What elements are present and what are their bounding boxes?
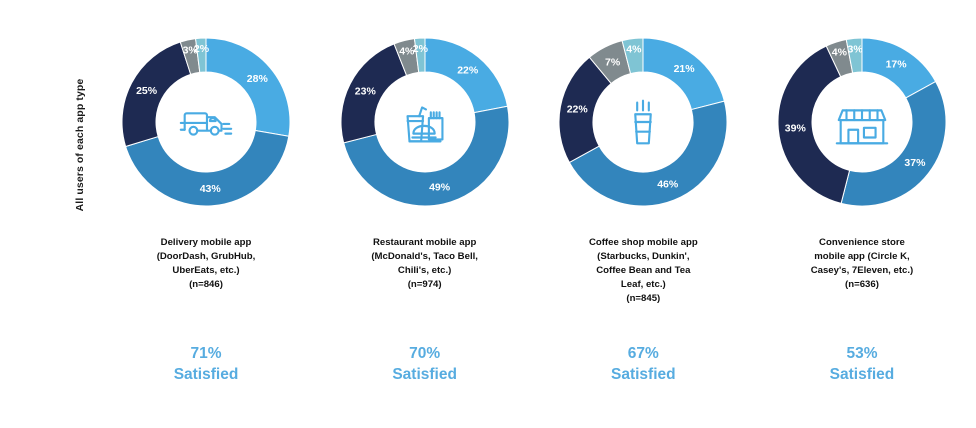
caption-line: (n=974) bbox=[330, 278, 520, 292]
donut-slice-satisfied[interactable] bbox=[841, 82, 946, 206]
caption-line: (n=845) bbox=[548, 292, 738, 306]
slice-label-satisfied: 46% bbox=[658, 178, 680, 190]
caption-line: (McDonald's, Taco Bell, bbox=[330, 250, 520, 264]
satisfied-percent: 70% bbox=[319, 344, 531, 365]
caption-line: Casey's, 7Eleven, etc.) bbox=[767, 264, 957, 278]
slice-label-very_dissatisfied: 3% bbox=[847, 43, 863, 55]
caption-line: Restaurant mobile app bbox=[330, 236, 520, 250]
satisfied-summary-restaurant: 70%Satisfied bbox=[319, 344, 531, 386]
donut-panel-delivery: 28%43%25%3%2% Delivery mobile app(DoorDa… bbox=[100, 26, 312, 306]
caption-line: Coffee Bean and Tea bbox=[548, 264, 738, 278]
chart-canvas: All users of each app type 28%43%25%3%2%… bbox=[0, 0, 976, 428]
slice-label-neutral: 39% bbox=[785, 122, 807, 134]
satisfied-word: Satisfied bbox=[319, 365, 531, 386]
donut-chart-delivery: 28%43%25%3%2% bbox=[110, 26, 302, 218]
satisfied-word: Satisfied bbox=[100, 365, 312, 386]
donut-chart-coffee-shop: 21%46%22%7%4% bbox=[547, 26, 739, 218]
slice-label-very_satisfied: 22% bbox=[457, 64, 479, 76]
donut-panels-row: 28%43%25%3%2% Delivery mobile app(DoorDa… bbox=[100, 26, 968, 306]
caption-line: Chili's, etc.) bbox=[330, 264, 520, 278]
panel-caption-delivery: Delivery mobile app(DoorDash, GrubHub,Ub… bbox=[111, 236, 301, 292]
slice-label-dissatisfied: 4% bbox=[832, 47, 848, 59]
satisfied-percent: 67% bbox=[537, 344, 749, 365]
caption-line: Convenience store bbox=[767, 236, 957, 250]
panel-caption-coffee-shop: Coffee shop mobile app(Starbucks, Dunkin… bbox=[548, 236, 738, 306]
satisfied-summary-coffee-shop: 67%Satisfied bbox=[537, 344, 749, 386]
caption-line: Coffee shop mobile app bbox=[548, 236, 738, 250]
donut-ring: 28%43%25%3%2% bbox=[110, 26, 302, 218]
slice-label-very_dissatisfied: 2% bbox=[412, 43, 428, 55]
donut-chart-restaurant: 22%49%23%4%2% bbox=[329, 26, 521, 218]
slice-label-dissatisfied: 7% bbox=[605, 56, 621, 68]
slice-label-very_satisfied: 28% bbox=[247, 73, 269, 85]
donut-ring: 22%49%23%4%2% bbox=[329, 26, 521, 218]
slice-label-satisfied: 43% bbox=[200, 183, 222, 195]
caption-line: Leaf, etc.) bbox=[548, 278, 738, 292]
slice-label-very_satisfied: 17% bbox=[886, 58, 908, 70]
donut-slice-very_satisfied[interactable] bbox=[206, 38, 290, 136]
satisfied-summary-convenience-store: 53%Satisfied bbox=[756, 344, 968, 386]
caption-line: mobile app (Circle K, bbox=[767, 250, 957, 264]
satisfied-percent: 71% bbox=[100, 344, 312, 365]
slice-label-neutral: 23% bbox=[354, 86, 376, 98]
donut-chart-convenience-store: 17%37%39%4%3% bbox=[766, 26, 958, 218]
satisfied-word: Satisfied bbox=[537, 365, 749, 386]
satisfied-word: Satisfied bbox=[756, 365, 968, 386]
caption-line: Delivery mobile app bbox=[111, 236, 301, 250]
satisfied-summary-delivery: 71%Satisfied bbox=[100, 344, 312, 386]
caption-line: (n=636) bbox=[767, 278, 957, 292]
caption-line: (Starbucks, Dunkin', bbox=[548, 250, 738, 264]
slice-label-very_dissatisfied: 2% bbox=[194, 43, 210, 55]
slice-label-satisfied: 49% bbox=[429, 181, 451, 193]
panel-caption-restaurant: Restaurant mobile app(McDonald's, Taco B… bbox=[330, 236, 520, 292]
donut-ring: 17%37%39%4%3% bbox=[766, 26, 958, 218]
slice-label-satisfied: 37% bbox=[904, 157, 926, 169]
caption-line: (n=846) bbox=[111, 278, 301, 292]
donut-panel-coffee-shop: 21%46%22%7%4% Coffee shop mobile app(Sta… bbox=[537, 26, 749, 306]
slice-label-very_dissatisfied: 4% bbox=[627, 44, 643, 56]
y-axis-label: All users of each app type bbox=[70, 55, 90, 235]
slice-label-neutral: 22% bbox=[567, 103, 589, 115]
satisfied-summary-row: 71%Satisfied70%Satisfied67%Satisfied53%S… bbox=[100, 344, 968, 386]
satisfied-percent: 53% bbox=[756, 344, 968, 365]
caption-line: UberEats, etc.) bbox=[111, 264, 301, 278]
donut-ring: 21%46%22%7%4% bbox=[547, 26, 739, 218]
slice-label-neutral: 25% bbox=[136, 85, 158, 97]
caption-line: (DoorDash, GrubHub, bbox=[111, 250, 301, 264]
donut-panel-convenience-store: 17%37%39%4%3% Convenience storemobile ap… bbox=[756, 26, 968, 306]
donut-panel-restaurant: 22%49%23%4%2% Restaurant mobile app(McDo… bbox=[319, 26, 531, 306]
panel-caption-convenience-store: Convenience storemobile app (Circle K,Ca… bbox=[767, 236, 957, 292]
slice-label-very_satisfied: 21% bbox=[674, 63, 696, 75]
